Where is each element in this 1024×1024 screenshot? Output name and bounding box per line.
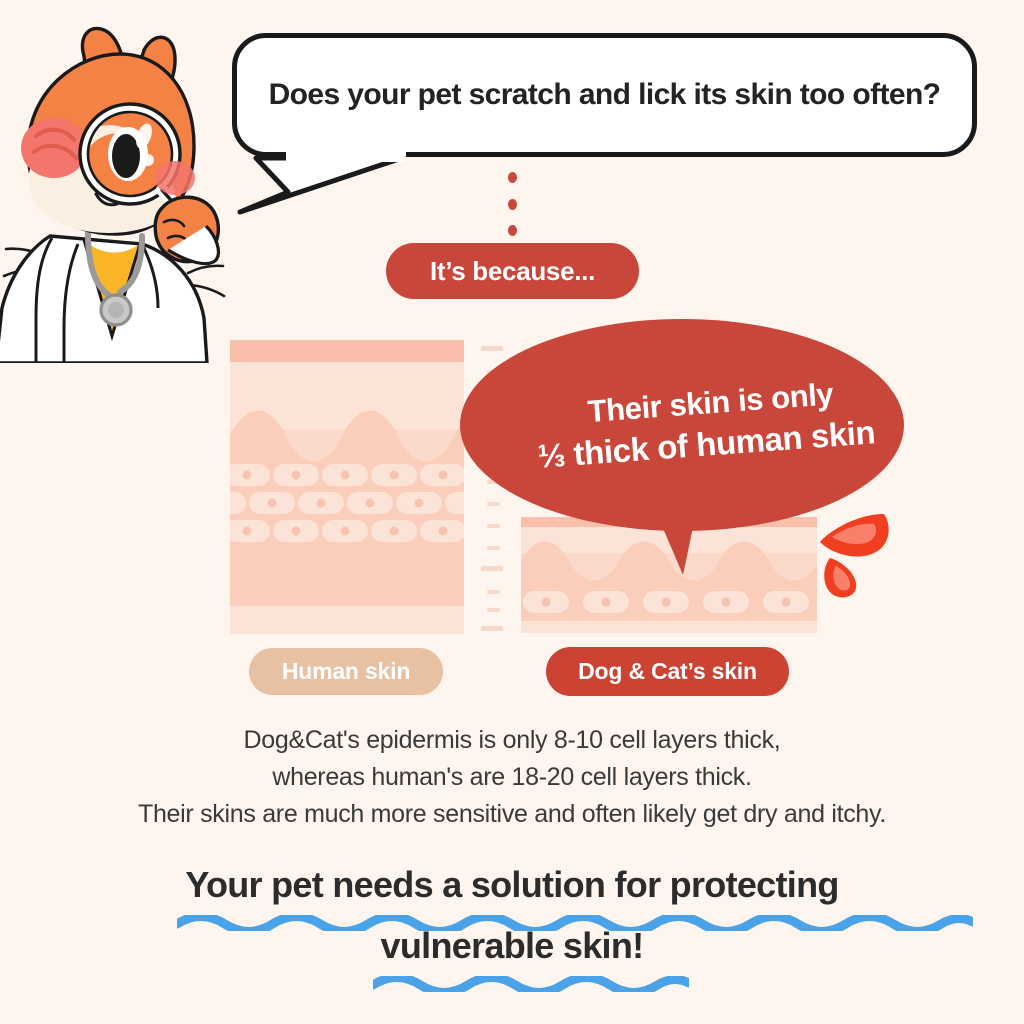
connector-dot-1 [508,172,517,183]
cheek-blush-left [21,118,87,178]
scratch-droplets-icon [806,500,892,600]
infographic-canvas: Does your pet scratch and lick its skin … [0,0,1024,1024]
headline-line-2-wrap: vulnerable skin! [381,919,644,980]
connector-dot-3 [508,225,517,236]
human-skin-cell-row-3 [230,520,464,542]
connector-dot-2 [508,199,517,210]
pet-skin-label: Dog & Cat’s skin [578,658,757,685]
paragraph-line-1: Dog&Cat's epidermis is only 8-10 cell la… [0,722,1024,759]
human-skin-top-band [230,340,464,362]
because-pill-label: It’s because... [430,256,595,287]
eye-pupil [112,134,140,178]
paragraph-line-2: whereas human's are 18-20 cell layers th… [0,759,1024,796]
human-skin-label-pill: Human skin [249,648,443,695]
headline-underline-2 [373,976,689,992]
headline-line-1-wrap: Your pet needs a solution for protecting [185,858,838,919]
cheek-blush-right [155,161,195,195]
pet-skin-bottom-band [521,621,817,633]
human-skin-bottom-band [230,606,464,634]
speech-bubble-tail [226,148,406,233]
because-pill: It’s because... [386,243,639,299]
speech-bubble: Does your pet scratch and lick its skin … [232,33,977,157]
cat-doctor-illustration [0,18,242,363]
speech-bubble-text: Does your pet scratch and lick its skin … [269,78,941,112]
headline-line-2: vulnerable skin! [381,919,644,972]
closing-headline: Your pet needs a solution for protecting… [0,858,1024,980]
pet-skin-label-pill: Dog & Cat’s skin [546,647,789,696]
headline-line-1: Your pet needs a solution for protecting [185,858,838,911]
human-skin-diagram [230,340,464,634]
human-skin-cell-row-1 [230,464,464,486]
paragraph-line-3: Their skins are much more sensitive and … [0,796,1024,833]
human-skin-label: Human skin [282,658,410,685]
description-paragraph: Dog&Cat's epidermis is only 8-10 cell la… [0,722,1024,833]
